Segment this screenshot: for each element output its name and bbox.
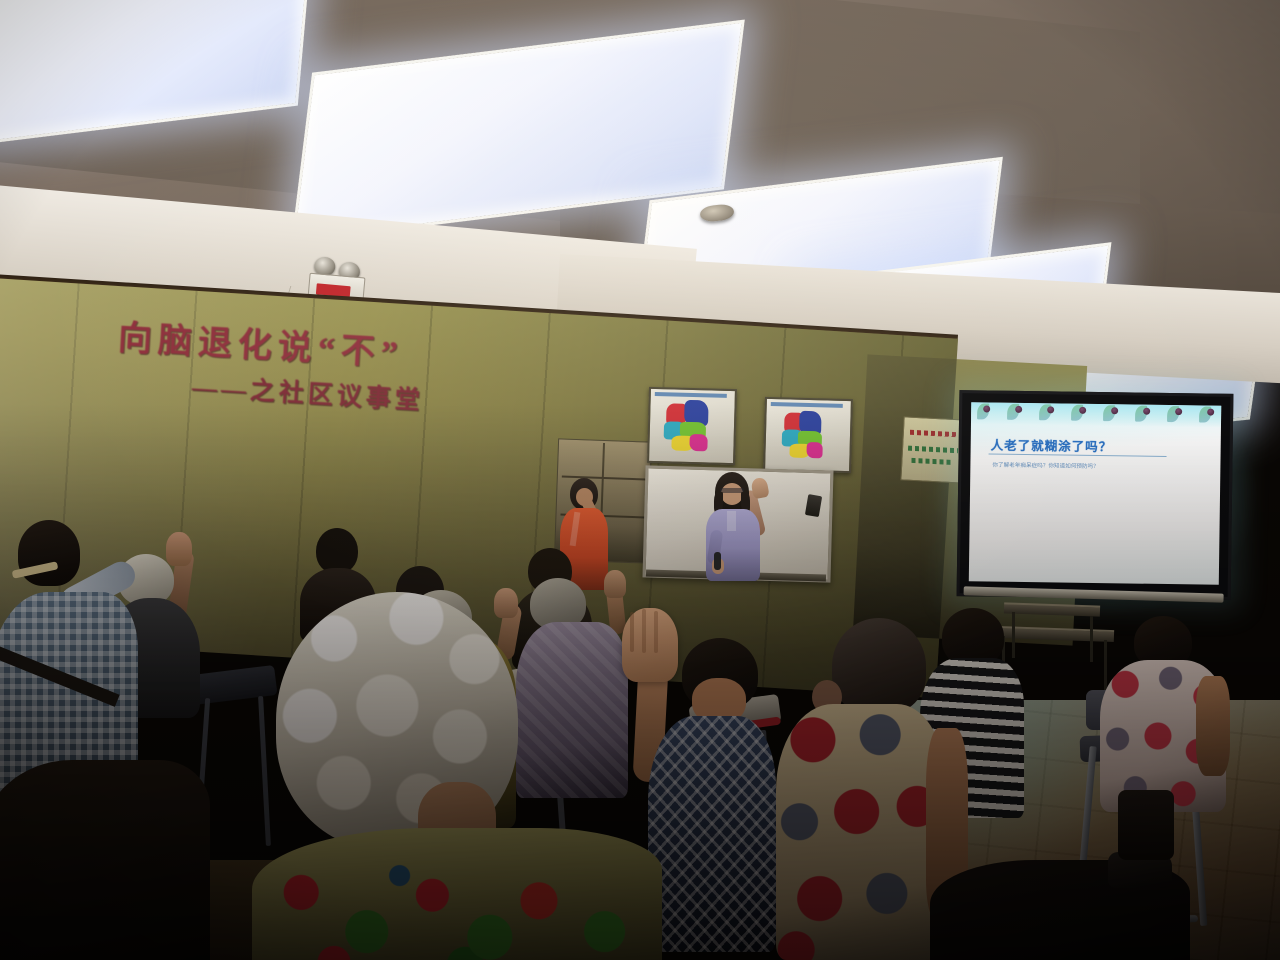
floral-green-top [252,828,662,960]
photo-scene: 向脑退化说“不” ——之社区议事堂 [0,0,1280,960]
slide-subtitle: 你了解老年痴呆症吗？你知道如何预防吗？ [992,461,1098,470]
projection-screen-surface: 人老了就糊涂了吗？ 你了解老年痴呆症吗？你知道如何预防吗？ [969,402,1221,584]
presenter [700,472,790,602]
slide-title-rule [989,454,1167,457]
presenter-face [721,483,743,505]
rose-print-vest [776,704,944,960]
attendee-legs [1118,790,1174,860]
presenter-raised-hand [750,477,769,499]
slide-title: 人老了就糊涂了吗？ [991,435,1113,456]
raised-hand [166,532,192,566]
whiteboard-marker-icon [805,494,822,517]
attendee-foreground-left [0,760,210,960]
attendee-white-curly-hair [252,592,672,960]
microphone-icon [714,552,721,570]
presenter-collar [727,511,736,531]
poster-body-line-2 [911,458,953,465]
slide-decorative-border [971,402,1221,427]
poster-body-line-1 [908,446,958,454]
attendee-dark-hair [832,618,926,714]
poster-map-right [763,397,853,473]
attendee-floral-back-row [1100,616,1230,816]
projection-screen: 人老了就糊涂了吗？ 你了解老年痴呆症吗？你知道如何预防吗？ [957,390,1234,600]
poster-top-line [910,430,958,438]
poster-map-left [647,387,737,465]
